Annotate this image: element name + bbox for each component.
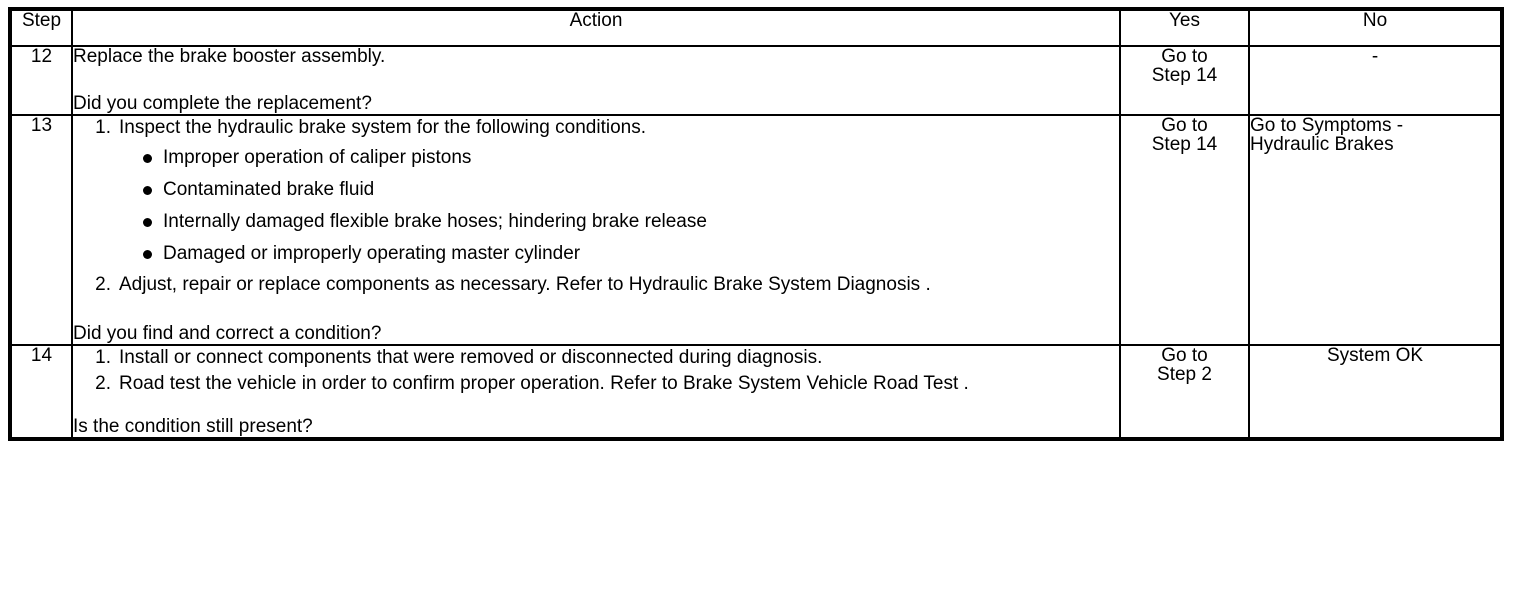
action-numbered-list: Install or connect components that were … — [73, 346, 1119, 395]
list-item: Adjust, repair or replace components as … — [119, 273, 1119, 297]
spacer — [73, 298, 1119, 324]
no-outcome: Go to Symptoms - Hydraulic Brakes — [1249, 115, 1502, 345]
list-item: Inspect the hydraulic brake system for t… — [119, 116, 1119, 270]
yes-outcome-line2: Step 2 — [1121, 365, 1248, 384]
action-question-text: Is the condition still present? — [73, 417, 1119, 438]
spacer — [73, 397, 1119, 417]
list-item: Road test the vehicle in order to confir… — [119, 372, 1119, 396]
list-item: Install or connect components that were … — [119, 346, 1119, 370]
list-item-text: Road test the vehicle in order to confir… — [119, 372, 1119, 396]
table-row: 13 Inspect the hydraulic brake system fo… — [10, 115, 1502, 345]
yes-outcome: Go to Step 14 — [1120, 46, 1249, 115]
yes-outcome: Go to Step 14 — [1120, 115, 1249, 345]
column-header-step: Step — [10, 9, 72, 46]
column-header-action: Action — [72, 9, 1120, 46]
list-item-text: Install or connect components that were … — [119, 346, 1119, 370]
diagnostic-steps-table: Step Action Yes No 12 Replace the brake … — [8, 7, 1504, 441]
action-question-text: Did you complete the replacement? — [73, 94, 1119, 115]
list-item-text: Inspect the hydraulic brake system for t… — [119, 116, 1119, 140]
no-outcome: - — [1249, 46, 1502, 115]
action-content: Install or connect components that were … — [72, 345, 1120, 439]
action-intro-text: Replace the brake booster assembly. — [73, 47, 1119, 68]
column-header-no: No — [1249, 9, 1502, 46]
list-item: Damaged or improperly operating master c… — [163, 238, 1119, 270]
list-item: Contaminated brake fluid — [163, 174, 1119, 206]
no-outcome-line2: Hydraulic Brakes — [1250, 135, 1500, 154]
no-outcome-line1: System OK — [1250, 346, 1500, 365]
action-question-text: Did you find and correct a condition? — [73, 324, 1119, 345]
list-item-text: Adjust, repair or replace components as … — [119, 273, 1119, 297]
action-content: Replace the brake booster assembly. Did … — [72, 46, 1120, 115]
column-header-yes: Yes — [1120, 9, 1249, 46]
step-number: 13 — [10, 115, 72, 345]
no-outcome-line1: Go to Symptoms - — [1250, 116, 1500, 135]
step-number: 12 — [10, 46, 72, 115]
yes-outcome-line1: Go to — [1121, 116, 1248, 135]
yes-outcome-line2: Step 14 — [1121, 135, 1248, 154]
no-outcome: System OK — [1249, 345, 1502, 439]
action-bullet-list: Improper operation of caliper pistons Co… — [119, 142, 1119, 270]
table-header-row: Step Action Yes No — [10, 9, 1502, 46]
yes-outcome: Go to Step 2 — [1120, 345, 1249, 439]
table-row: 12 Replace the brake booster assembly. D… — [10, 46, 1502, 115]
table-row: 14 Install or connect components that we… — [10, 345, 1502, 439]
yes-outcome-line1: Go to — [1121, 346, 1248, 365]
yes-outcome-line1: Go to — [1121, 47, 1248, 66]
action-numbered-list: Inspect the hydraulic brake system for t… — [73, 116, 1119, 297]
no-outcome-line1: - — [1250, 47, 1500, 66]
step-number: 14 — [10, 345, 72, 439]
list-item: Improper operation of caliper pistons — [163, 142, 1119, 174]
spacer — [73, 68, 1119, 94]
yes-outcome-line2: Step 14 — [1121, 66, 1248, 85]
list-item: Internally damaged flexible brake hoses;… — [163, 206, 1119, 238]
action-content: Inspect the hydraulic brake system for t… — [72, 115, 1120, 345]
